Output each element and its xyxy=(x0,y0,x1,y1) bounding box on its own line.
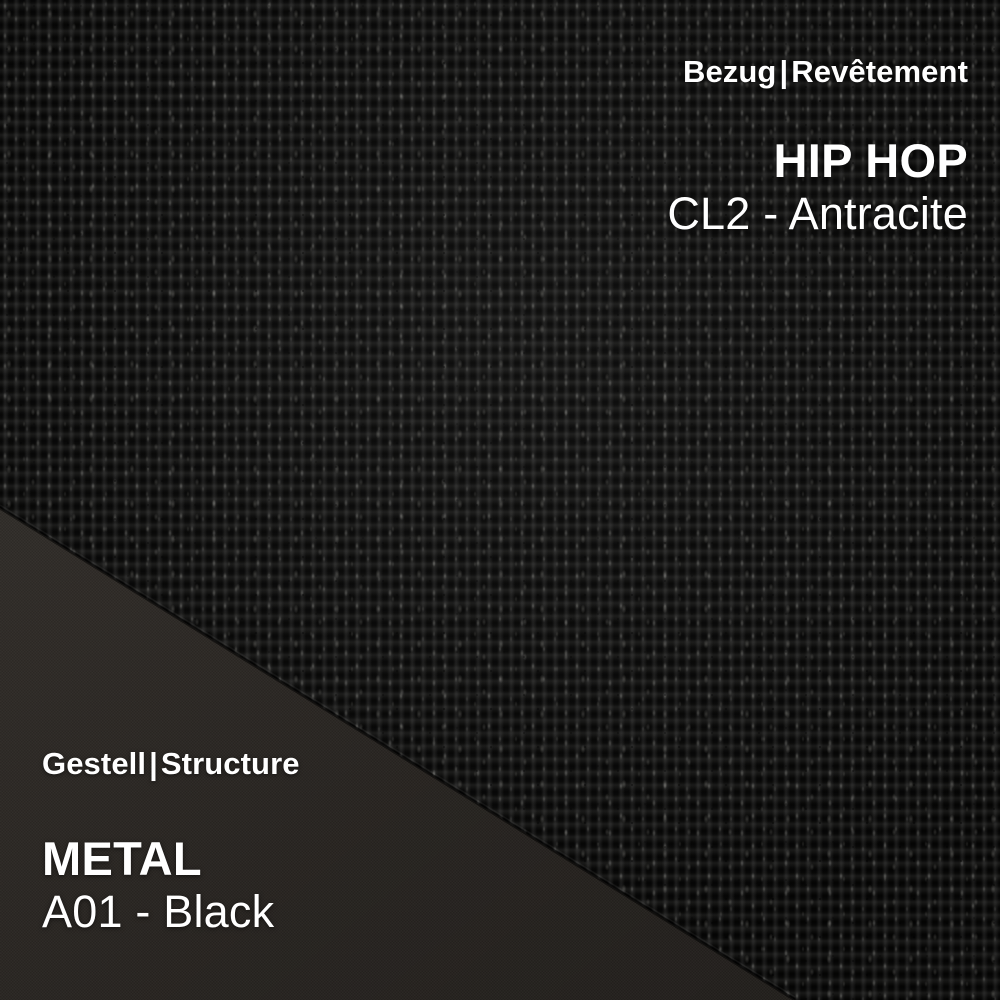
frame-kicker: Gestell|Structure xyxy=(42,747,300,782)
frame-kicker-separator: | xyxy=(146,747,161,782)
frame-material-name: METAL xyxy=(42,834,300,885)
frame-material-code: A01 - Black xyxy=(42,886,300,938)
frame-label-block: Gestell|Structure METAL A01 - Black xyxy=(42,747,300,938)
cover-label-block: Bezug|Revêtement HIP HOP CL2 - Antracite xyxy=(667,55,968,240)
cover-kicker-fr: Revêtement xyxy=(791,54,968,89)
cover-material-name: HIP HOP xyxy=(667,136,968,187)
cover-material-code: CL2 - Antracite xyxy=(667,188,968,240)
frame-kicker-fr: Structure xyxy=(161,746,300,781)
material-swatch-card: Bezug|Revêtement HIP HOP CL2 - Antracite… xyxy=(0,0,1000,1000)
cover-kicker: Bezug|Revêtement xyxy=(667,55,968,90)
cover-kicker-separator: | xyxy=(776,55,791,90)
cover-kicker-de: Bezug xyxy=(683,54,777,89)
frame-kicker-de: Gestell xyxy=(42,746,146,781)
